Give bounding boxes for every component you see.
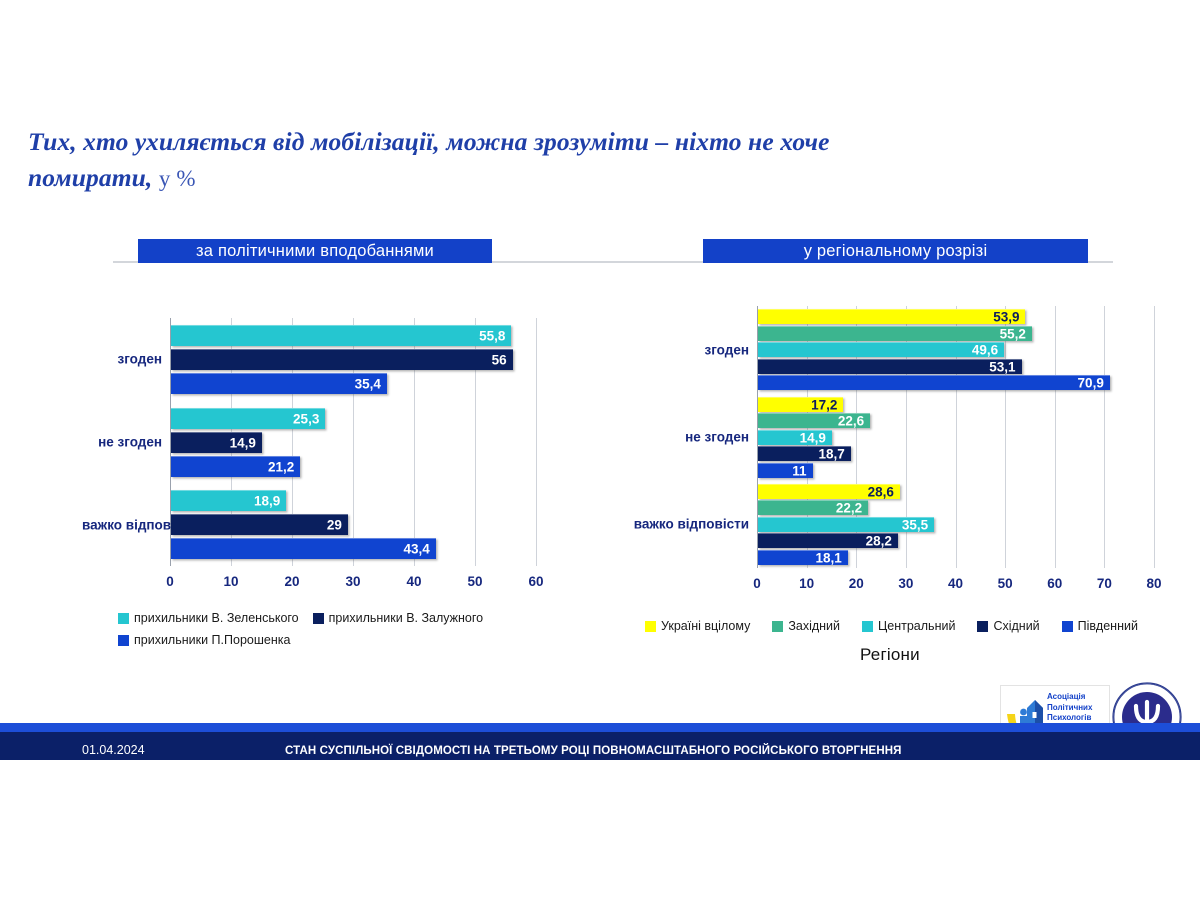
legend-regional-label: Південний [1078, 615, 1138, 637]
category-label: згоден [605, 342, 749, 357]
bar: 49,6 [758, 342, 1004, 357]
legend-swatch-icon [977, 621, 988, 632]
legend-swatch-icon [772, 621, 783, 632]
plot-area-right: 01020304050607080згоден53,955,249,653,17… [605, 292, 1170, 600]
bar-value-label: 22,2 [836, 501, 862, 516]
bar-value-label: 28,2 [866, 534, 892, 549]
legend-regional-item[interactable]: Україні вцілому [645, 615, 750, 637]
bar: 55,8 [171, 325, 511, 346]
gridline [1055, 306, 1056, 568]
x-axis-tick: 60 [528, 574, 543, 589]
bar-value-label: 11 [792, 463, 806, 478]
bar-value-label: 56 [492, 352, 507, 367]
bar: 28,6 [758, 484, 900, 499]
footer-bar: 01.04.2024 СТАН СУСПІЛЬНОЇ СВІДОМОСТІ НА… [0, 732, 1200, 760]
x-axis-tick: 60 [1047, 576, 1062, 591]
x-axis-tick: 40 [406, 574, 421, 589]
panel-header-political: за політичними вподобаннями [138, 239, 492, 263]
x-axis-tick: 30 [898, 576, 913, 591]
title-line-2: помирати, у % [28, 160, 1068, 197]
legend-political-item[interactable]: прихильники П.Порошенка [118, 629, 290, 651]
footer-date: 01.04.2024 [82, 743, 145, 757]
logo-line-3: Психологів [1047, 713, 1091, 722]
bar-value-label: 35,4 [355, 376, 381, 391]
bar-value-label: 18,1 [816, 550, 842, 565]
category-label: важко відповісти [605, 517, 749, 532]
slide: Тих, хто ухиляється від мобілізації, мож… [0, 0, 1200, 900]
bar-value-label: 14,9 [230, 435, 256, 450]
legend-regional-item[interactable]: Східний [977, 615, 1039, 637]
title-unit: у % [159, 166, 196, 191]
bar-value-label: 28,6 [868, 484, 894, 499]
bar: 18,9 [171, 490, 286, 511]
category-label: важко відповісти [82, 517, 162, 532]
legend-swatch-icon [1062, 621, 1073, 632]
legend-regional-item[interactable]: Центральний [862, 615, 955, 637]
bar: 18,7 [758, 446, 851, 461]
bar-value-label: 21,2 [268, 459, 294, 474]
legend-political-label: прихильники В. Залужного [329, 607, 483, 629]
bar: 14,9 [758, 430, 832, 445]
logo-line-2: Політичних [1047, 703, 1092, 712]
legend-political-label: прихильники В. Зеленського [134, 607, 299, 629]
bar-value-label: 25,3 [293, 411, 319, 426]
bar: 53,1 [758, 359, 1022, 374]
x-axis-tick: 30 [345, 574, 360, 589]
bar: 55,2 [758, 326, 1032, 341]
title-line-2-main: помирати, [28, 163, 152, 192]
legend-political-item[interactable]: прихильники В. Зеленського [118, 607, 299, 629]
bar-value-label: 70,9 [1078, 376, 1104, 391]
legend-regional-label: Центральний [878, 615, 955, 637]
legend-swatch-icon [118, 635, 129, 646]
bar-value-label: 18,7 [819, 447, 845, 462]
bar: 53,9 [758, 309, 1025, 324]
x-axis-tick: 40 [948, 576, 963, 591]
bar-value-label: 17,2 [811, 397, 837, 412]
bar: 35,5 [758, 517, 934, 532]
category-label: не згоден [82, 435, 162, 450]
bar-value-label: 14,9 [800, 430, 826, 445]
legend-regional-item[interactable]: Західний [772, 615, 840, 637]
legend-regional: Україні вціломуЗахіднийЦентральнийСхідни… [645, 615, 1175, 637]
footer-accent-strip [0, 723, 1200, 732]
bar-value-label: 29 [327, 518, 342, 533]
gridline [1104, 306, 1105, 568]
bar: 22,2 [758, 500, 868, 515]
bar-value-label: 43,4 [403, 542, 429, 557]
footer-caption: СТАН СУСПІЛЬНОЇ СВІДОМОСТІ НА ТРЕТЬОМУ Р… [285, 745, 902, 757]
bar: 17,2 [758, 397, 843, 412]
bar: 28,2 [758, 533, 898, 548]
x-axis-tick: 80 [1146, 576, 1161, 591]
x-axis-tick: 50 [467, 574, 482, 589]
legend-regional-label: Східний [993, 615, 1039, 637]
category-label: не згоден [605, 430, 749, 445]
bar: 43,4 [171, 538, 436, 559]
x-axis-tick: 20 [284, 574, 299, 589]
bar: 14,9 [171, 432, 262, 453]
legend-political-item[interactable]: прихильники В. Залужного [313, 607, 483, 629]
legend-regional-label: Україні вцілому [661, 615, 750, 637]
x-axis-tick: 10 [799, 576, 814, 591]
x-axis-tick: 0 [753, 576, 761, 591]
bar-value-label: 18,9 [254, 494, 280, 509]
axis-title-regions: Регіони [860, 645, 920, 665]
logo-line-1: Асоціація [1047, 692, 1085, 701]
bar: 56 [171, 349, 513, 370]
x-axis-tick: 70 [1097, 576, 1112, 591]
gridline [1005, 306, 1006, 568]
bar: 25,3 [171, 408, 325, 429]
bar: 22,6 [758, 413, 870, 428]
bar-value-label: 35,5 [902, 517, 928, 532]
bar: 18,1 [758, 550, 848, 565]
bar: 70,9 [758, 375, 1110, 390]
legend-political: прихильники В. Зеленськогоприхильники В.… [118, 607, 548, 651]
bar: 29 [171, 514, 348, 535]
x-axis-tick: 0 [166, 574, 174, 589]
legend-swatch-icon [862, 621, 873, 632]
legend-swatch-icon [313, 613, 324, 624]
bar-value-label: 53,1 [989, 359, 1015, 374]
bar-value-label: 53,9 [993, 310, 1019, 325]
chart-regional: 01020304050607080згоден53,955,249,653,17… [605, 292, 1170, 600]
legend-regional-label: Західний [788, 615, 840, 637]
bar: 21,2 [171, 456, 300, 477]
x-axis-tick: 20 [849, 576, 864, 591]
bar-value-label: 55,8 [479, 328, 505, 343]
page-title: Тих, хто ухиляється від мобілізації, мож… [28, 124, 1068, 197]
bar-value-label: 22,6 [838, 414, 864, 429]
x-axis-tick: 50 [998, 576, 1013, 591]
bar-value-label: 55,2 [1000, 326, 1026, 341]
panel-header-regional: у регіональному розрізі [703, 239, 1088, 263]
category-label: згоден [82, 352, 162, 367]
legend-political-label: прихильники П.Порошенка [134, 629, 290, 651]
chart-political-preferences: 0102030405060згоден55,85635,4не згоден25… [82, 300, 627, 600]
bar: 11 [758, 463, 813, 478]
legend-swatch-icon [118, 613, 129, 624]
bar: 35,4 [171, 373, 387, 394]
legend-swatch-icon [645, 621, 656, 632]
gridline [536, 318, 537, 566]
gridline [1154, 306, 1155, 568]
plot-area-left: 0102030405060згоден55,85635,4не згоден25… [82, 300, 627, 600]
legend-regional-item[interactable]: Південний [1062, 615, 1138, 637]
bar-value-label: 49,6 [972, 343, 998, 358]
title-line-1: Тих, хто ухиляється від мобілізації, мож… [28, 124, 1068, 160]
x-axis-tick: 10 [223, 574, 238, 589]
